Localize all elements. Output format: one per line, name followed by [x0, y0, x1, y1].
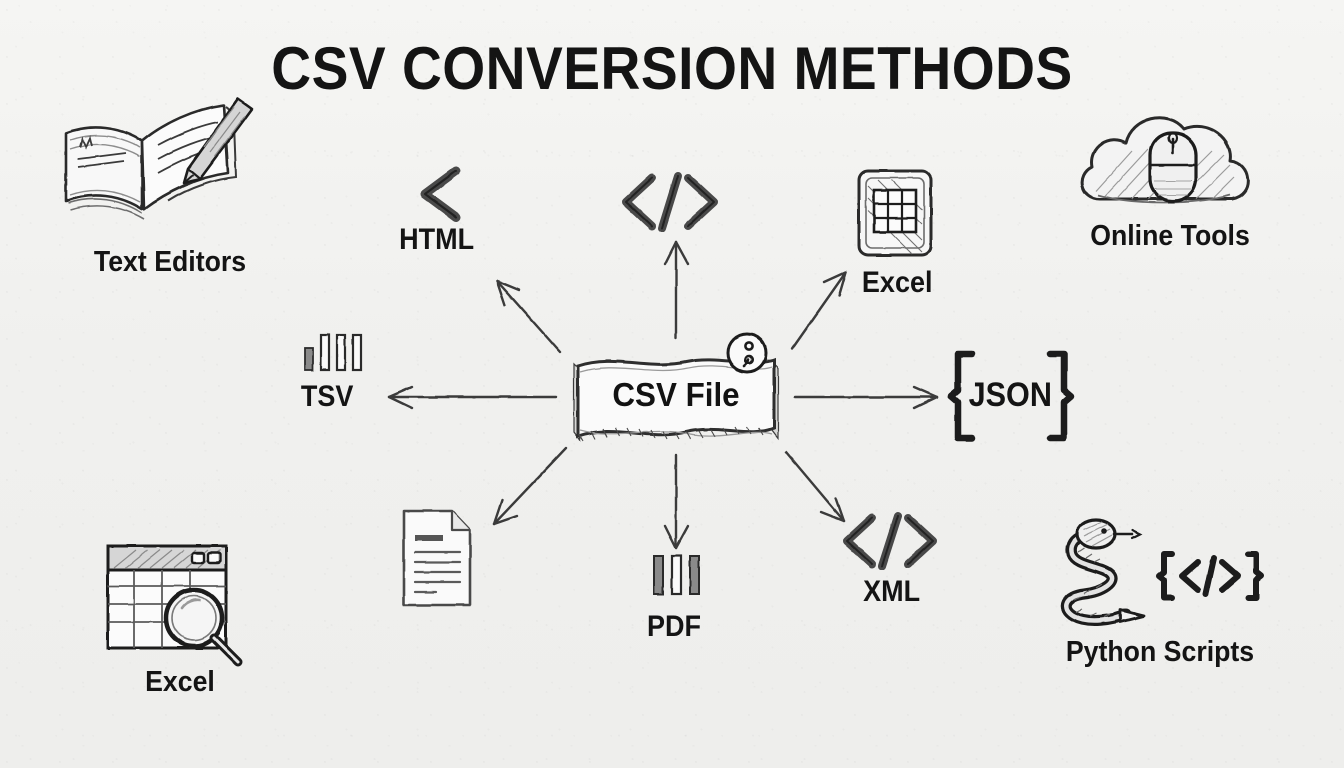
diagram-canvas: CSV CONVERSION METHODS [0, 0, 1344, 768]
corner-label-text-editors: Text Editors [41, 248, 299, 277]
corner-label-online-tools: Online Tools [1050, 222, 1289, 251]
node-label-excel: Excel [862, 268, 933, 298]
arrow-to-excel [792, 272, 846, 349]
arrow-to-html [497, 281, 560, 352]
node-label-json: JSON [969, 378, 1052, 412]
open-book-pen-icon [52, 83, 262, 238]
spreadsheet-grid-icon [852, 166, 938, 267]
three-bars-icon [648, 552, 708, 605]
corner-label-excel: Excel [79, 668, 281, 697]
arrow-to-tsv [389, 387, 556, 408]
tab-columns-icon [300, 330, 370, 381]
spreadsheet-magnifier-icon [100, 540, 260, 675]
csv-file-label: CSV File [572, 376, 781, 414]
corner-label-python-scripts: Python Scripts [1035, 638, 1285, 667]
code-brackets-icon-xml [838, 512, 942, 575]
snake-code-icon [1040, 518, 1270, 639]
node-label-pdf: PDF [647, 612, 701, 642]
arrow-to-code [665, 242, 688, 338]
angle-bracket-left-icon [412, 163, 474, 230]
document-page-icon [396, 505, 478, 616]
arrow-to-json [795, 387, 937, 408]
node-label-tsv: TSV [301, 382, 354, 412]
node-label-xml: XML [863, 577, 920, 607]
cloud-mouse-icon [1072, 95, 1262, 230]
node-label-html: HTML [399, 225, 474, 255]
arrow-to-xml [786, 452, 844, 521]
arrow-to-pdf [665, 455, 688, 548]
code-brackets-icon [618, 172, 722, 237]
arrow-to-document [494, 448, 566, 524]
semicolon-badge-icon [724, 330, 770, 376]
